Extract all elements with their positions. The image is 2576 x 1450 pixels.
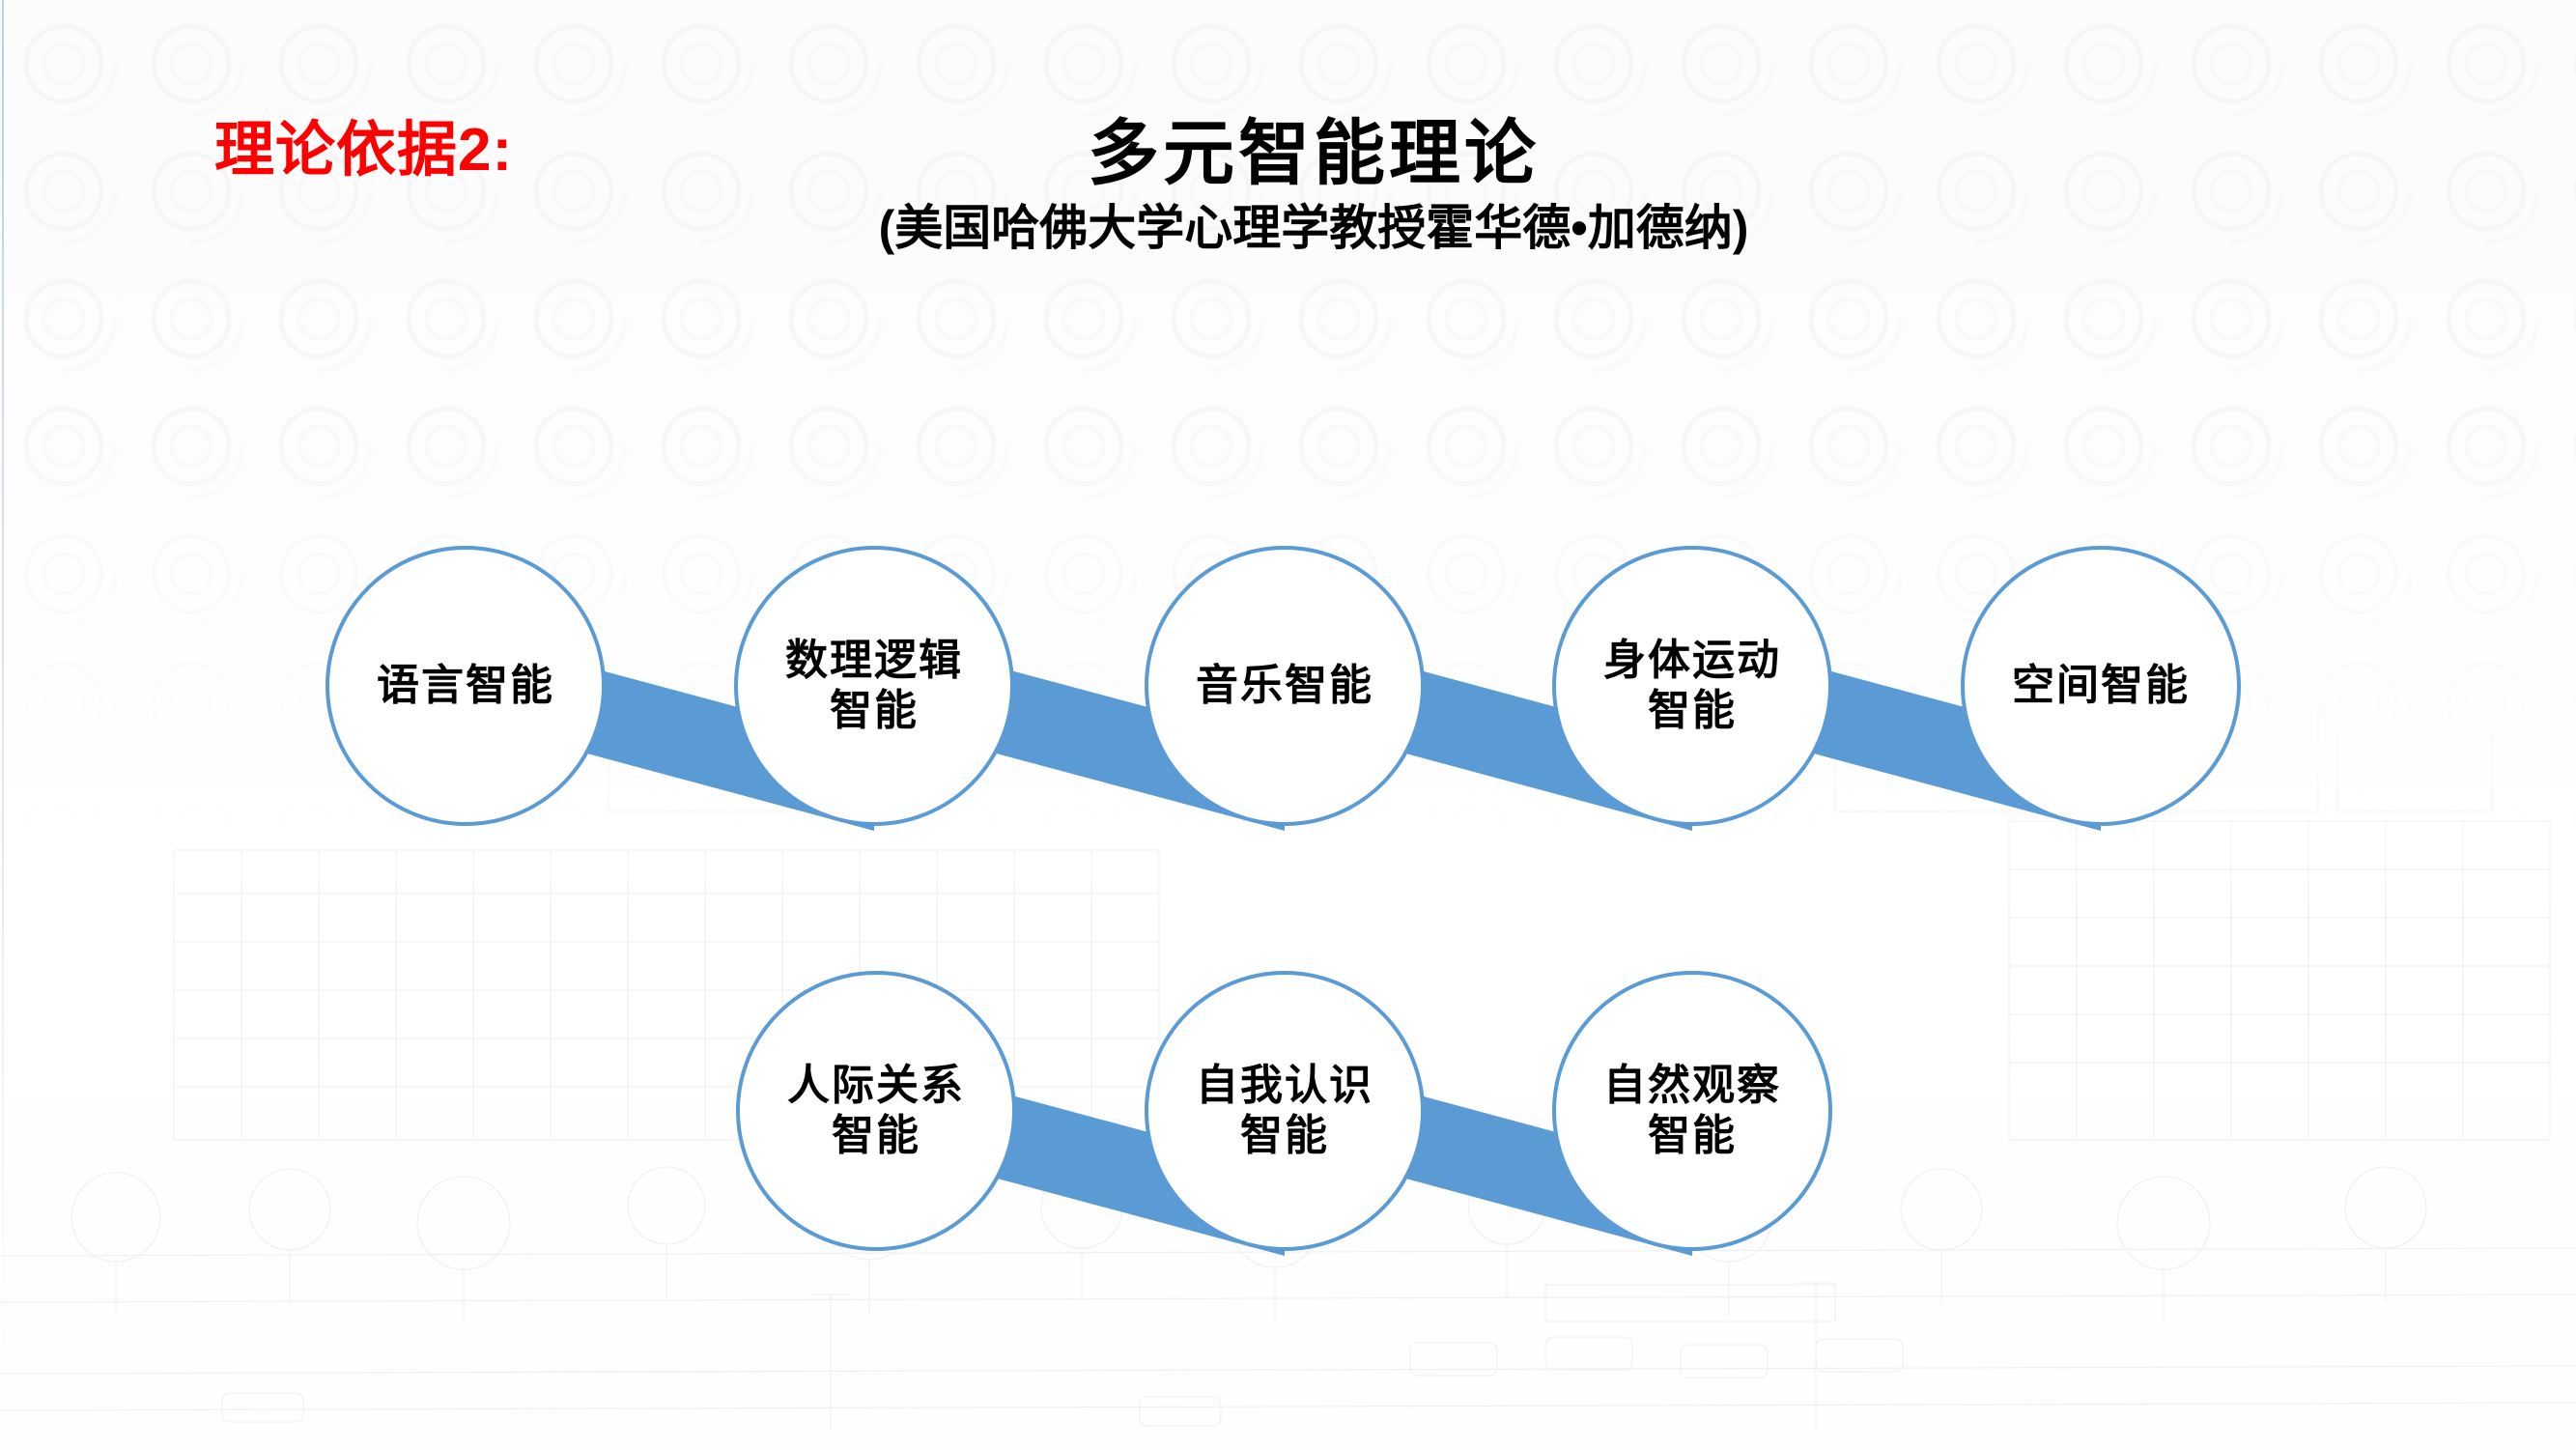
node-label: 数理逻辑 智能 [778,636,971,736]
node-label: 自我认识 智能 [1188,1061,1381,1161]
node-naturalist-intelligence[interactable]: 自然观察 智能 [1552,971,1832,1251]
node-musical-intelligence[interactable]: 音乐智能 [1145,546,1425,826]
node-label: 空间智能 [2004,661,2197,711]
node-label: 人际关系 智能 [779,1061,973,1161]
node-intrapersonal-intelligence[interactable]: 自我认识 智能 [1145,971,1425,1251]
node-label: 语言智能 [369,661,562,711]
node-logical-mathematical-intelligence[interactable]: 数理逻辑 智能 [734,546,1014,826]
node-label: 自然观察 智能 [1596,1061,1789,1161]
node-spatial-intelligence[interactable]: 空间智能 [1961,546,2241,826]
node-interpersonal-intelligence[interactable]: 人际关系 智能 [736,971,1016,1251]
slide-canvas: 理论依据2: 多元智能理论 (美国哈佛大学心理学教授霍华德•加德纳) 语言智能 … [0,0,2576,1450]
multiple-intelligences-diagram: 语言智能 数理逻辑 智能 音乐智能 身体运动 智能 空间智能 人际关系 智能 自… [0,0,2576,1450]
node-label: 音乐智能 [1188,661,1381,711]
node-label: 身体运动 智能 [1596,636,1789,736]
node-bodily-kinesthetic-intelligence[interactable]: 身体运动 智能 [1552,546,1832,826]
node-language-intelligence[interactable]: 语言智能 [326,546,606,826]
